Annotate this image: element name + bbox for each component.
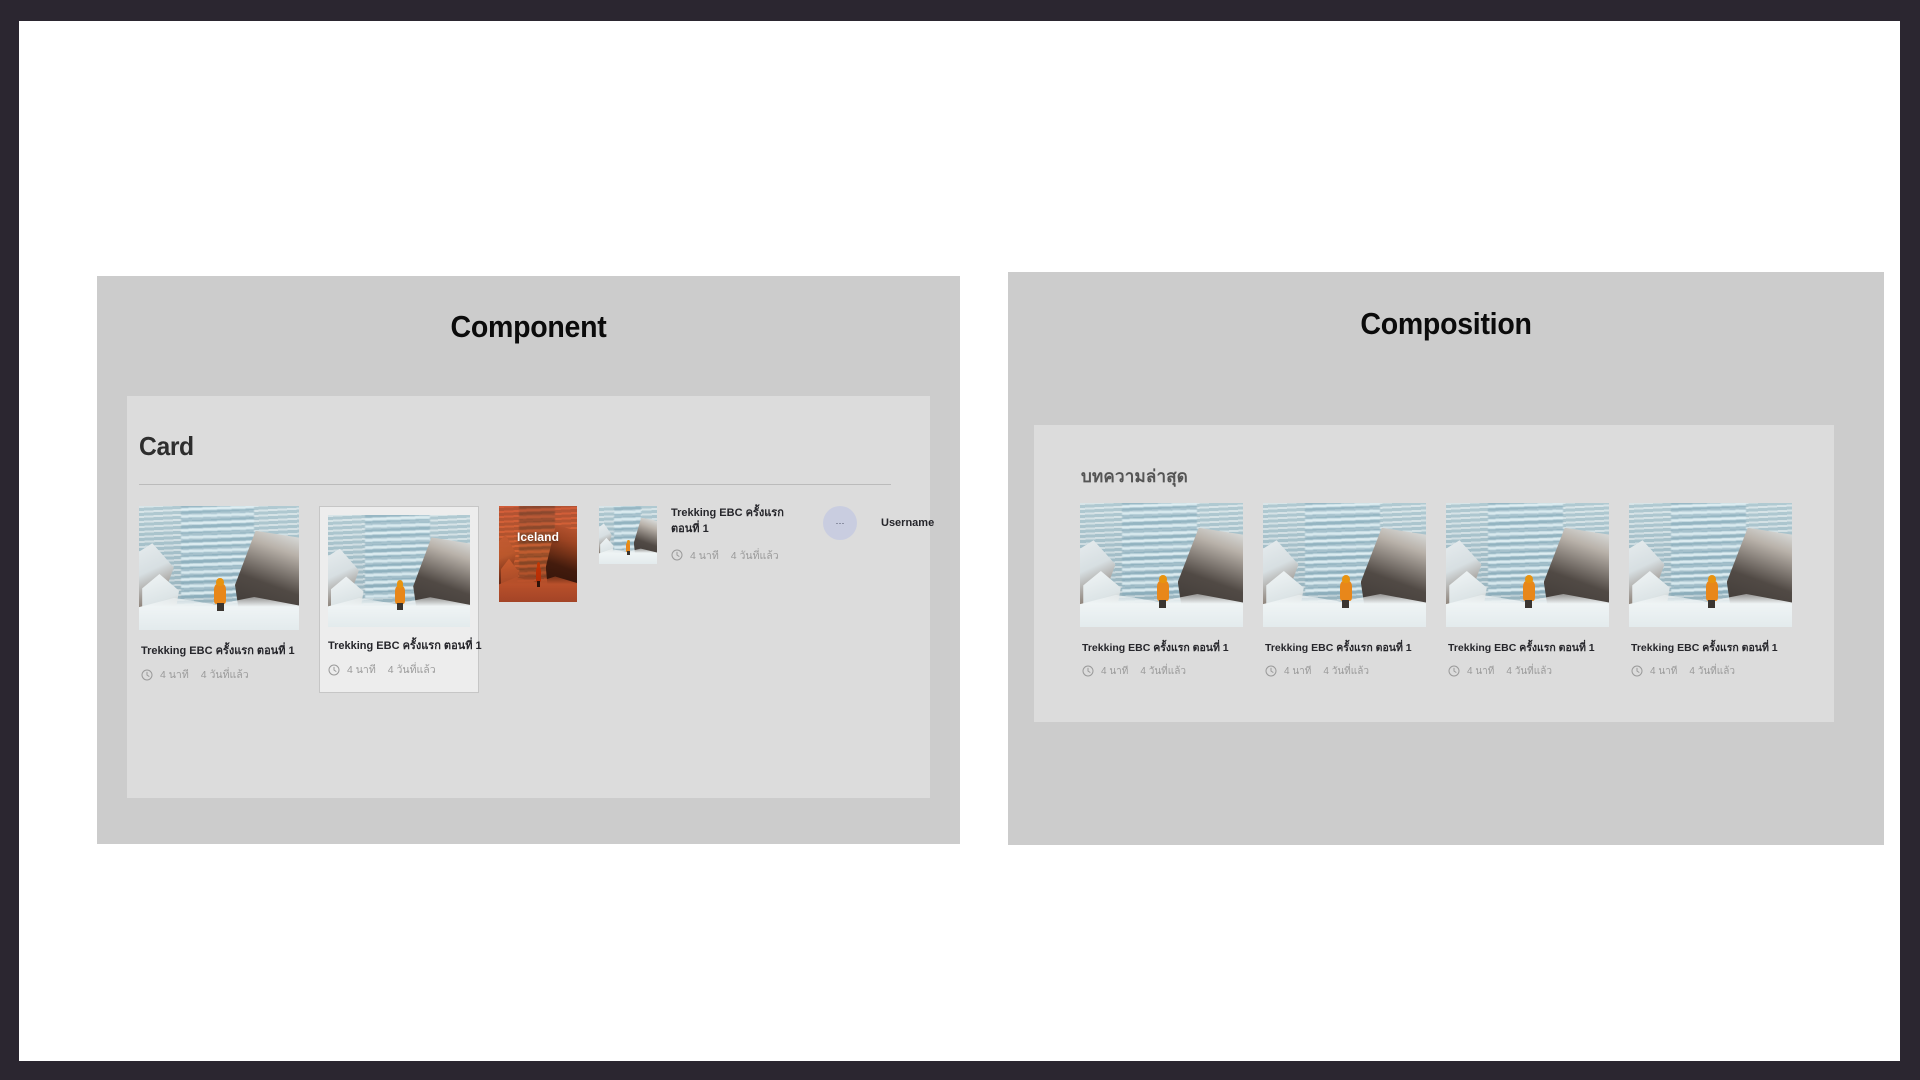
list-item[interactable]: Trekking EBC ครั้งแรก ตอนที่ 1 4 นาที 4 [1263, 503, 1426, 679]
section-divider [139, 484, 891, 485]
card-read-time: 4 นาที [690, 547, 719, 564]
card-title: Trekking EBC ครั้งแรก ตอนที่ 1 [141, 644, 297, 659]
app-frame: Component Card Trekking EBC [0, 0, 1920, 1080]
card-title: Trekking EBC ครั้งแรก ตอนที่ 1 [1448, 641, 1607, 656]
card-overlay-label[interactable]: Iceland [499, 506, 577, 602]
card-plain[interactable]: Trekking EBC ครั้งแรก ตอนที่ 1 4 นาที 4 [139, 506, 299, 683]
card-photo [1446, 503, 1609, 627]
card-title-line1: Trekking EBC ครั้งแรก [671, 506, 801, 522]
clock-icon [671, 549, 683, 561]
card-photo [1629, 503, 1792, 627]
card-posted-time: 4 วันที่แล้ว [1323, 664, 1369, 679]
card-photo [328, 515, 470, 627]
card-photo [1263, 503, 1426, 627]
card-variants-row: Trekking EBC ครั้งแรก ตอนที่ 1 4 นาที 4 [139, 506, 934, 693]
username-label: Username [881, 517, 934, 529]
clock-icon [1448, 665, 1460, 677]
card-meta: 4 นาที 4 วันที่แล้ว [671, 547, 801, 564]
component-panel: Component Card Trekking EBC [97, 276, 960, 844]
card-posted-time: 4 วันที่แล้ว [1140, 664, 1186, 679]
card-meta: 4 นาที 4 วันที่แล้ว [1631, 664, 1790, 679]
card-posted-time: 4 วันที่แล้ว [1689, 664, 1735, 679]
clock-icon [1265, 665, 1277, 677]
latest-articles-surface: บทความล่าสุด Trekking EBC ครั้งแรก ตอนที… [1034, 425, 1834, 722]
card-meta: 4 นาที 4 วันที่แล้ว [141, 666, 297, 683]
clock-icon [141, 669, 153, 681]
latest-articles-heading: บทความล่าสุด [1081, 463, 1188, 490]
card-read-time: 4 นาที [347, 661, 376, 678]
card-meta: 4 นาที 4 วันที่แล้ว [1265, 664, 1424, 679]
avatar[interactable]: ··· [823, 506, 857, 540]
card-read-time: 4 นาที [1467, 664, 1494, 679]
card-meta: 4 นาที 4 วันที่แล้ว [1082, 664, 1241, 679]
latest-articles-grid: Trekking EBC ครั้งแรก ตอนที่ 1 4 นาที 4 [1080, 503, 1792, 679]
composition-panel-title: Composition [1043, 306, 1849, 342]
card-read-time: 4 นาที [160, 666, 189, 683]
card-title: Trekking EBC ครั้งแรก ตอนที่ 1 [1265, 641, 1424, 656]
card-meta: 4 นาที 4 วันที่แล้ว [1448, 664, 1607, 679]
list-item[interactable]: Trekking EBC ครั้งแรก ตอนที่ 1 4 นาที 4 [1080, 503, 1243, 679]
card-posted-time: 4 วันที่แล้ว [1506, 664, 1552, 679]
card-title: Trekking EBC ครั้งแรก ตอนที่ 1 [1082, 641, 1241, 656]
card-title: Trekking EBC ครั้งแรก ตอนที่ 1 [328, 639, 470, 654]
card-read-time: 4 นาที [1284, 664, 1311, 679]
card-read-time: 4 นาที [1650, 664, 1677, 679]
clock-icon [328, 664, 340, 676]
list-item[interactable]: Trekking EBC ครั้งแรก ตอนที่ 1 4 นาที 4 [1629, 503, 1792, 679]
card-thumbnail [599, 506, 657, 564]
card-section-surface: Card Trekking EBC ครั้งแรก ตอนที่ 1 [127, 396, 930, 798]
card-elevated[interactable]: Trekking EBC ครั้งแรก ตอนที่ 1 4 นาที 4 [319, 506, 479, 693]
card-user[interactable]: ··· Username [823, 506, 934, 540]
card-photo [499, 506, 577, 602]
composition-panel: Composition บทความล่าสุด Trekking EBC คร… [1008, 272, 1884, 845]
design-canvas: Component Card Trekking EBC [19, 21, 1900, 1061]
card-photo [139, 506, 299, 630]
clock-icon [1631, 665, 1643, 677]
card-posted-time: 4 วันที่แล้ว [388, 661, 436, 678]
component-panel-title: Component [132, 309, 926, 345]
card-posted-time: 4 วันที่แล้ว [731, 547, 779, 564]
overlay-label: Iceland [499, 530, 577, 544]
card-read-time: 4 นาที [1101, 664, 1128, 679]
card-meta: 4 นาที 4 วันที่แล้ว [328, 661, 470, 678]
card-horizontal[interactable]: Trekking EBC ครั้งแรก ตอนที่ 1 4 นาที [599, 506, 801, 564]
avatar-placeholder-icon: ··· [836, 519, 845, 528]
card-section-heading: Card [139, 431, 194, 462]
list-item[interactable]: Trekking EBC ครั้งแรก ตอนที่ 1 4 นาที 4 [1446, 503, 1609, 679]
card-photo [1080, 503, 1243, 627]
card-title: Trekking EBC ครั้งแรก ตอนที่ 1 [1631, 641, 1790, 656]
card-title-line2: ตอนที่ 1 [671, 522, 801, 538]
card-posted-time: 4 วันที่แล้ว [201, 666, 249, 683]
clock-icon [1082, 665, 1094, 677]
